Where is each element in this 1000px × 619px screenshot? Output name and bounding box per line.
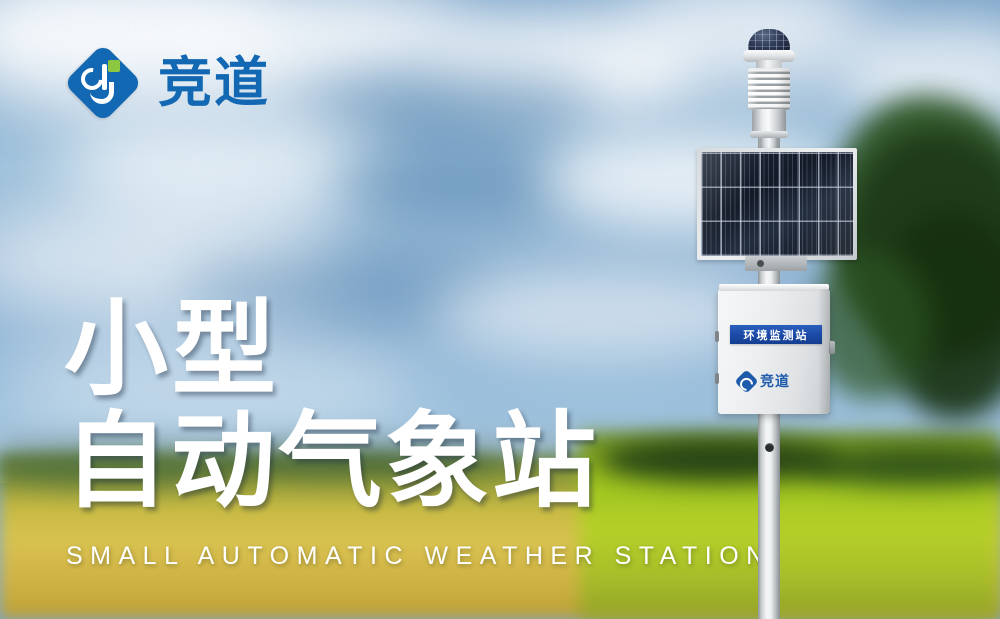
- control-box-brand-text: 竞道: [760, 371, 790, 391]
- control-box-top: [719, 284, 829, 291]
- headline-block: 小型 自动气象站: [64, 296, 599, 514]
- pole-bolt-icon: [765, 443, 774, 452]
- headline-line-2: 自动气象站: [64, 408, 599, 514]
- headline-line-1: 小型: [64, 296, 599, 402]
- solar-panel-frame: [697, 148, 857, 260]
- control-box-banner-text: 环境监测站: [744, 327, 809, 343]
- control-box-banner: 环境监测站: [730, 325, 822, 344]
- ultrasonic-weather-sensor: [740, 24, 798, 144]
- solar-panel-bracket: [745, 256, 807, 271]
- control-box-brand: 竞道: [738, 371, 790, 391]
- brand-name: 竞道: [158, 56, 270, 110]
- sensor-ring: [750, 131, 788, 138]
- weather-station: 环境监测站 竞道: [690, 24, 880, 619]
- banner-stage: 竞道 小型 自动气象站 SMALL AUTOMATIC WEATHER STAT…: [0, 0, 1000, 619]
- solar-panel: [697, 148, 857, 265]
- logo-green-square-icon: [108, 60, 120, 72]
- radiation-shield-icon: [748, 68, 790, 110]
- solar-panel-surface: [701, 152, 853, 256]
- control-box-shading: [818, 289, 830, 414]
- headline-subtitle: SMALL AUTOMATIC WEATHER STATION: [66, 542, 772, 571]
- solar-panel-bolt-icon: [757, 260, 764, 267]
- control-box: 环境监测站 竞道: [718, 289, 830, 414]
- control-box-vent: [715, 373, 719, 384]
- brand-logo[interactable]: 竞道: [64, 44, 270, 122]
- jingdao-logo-icon: [734, 369, 758, 393]
- control-box-vent: [715, 331, 719, 342]
- jingdao-diamond-logo-icon: [64, 44, 142, 122]
- solar-panel-gloss: [701, 152, 853, 256]
